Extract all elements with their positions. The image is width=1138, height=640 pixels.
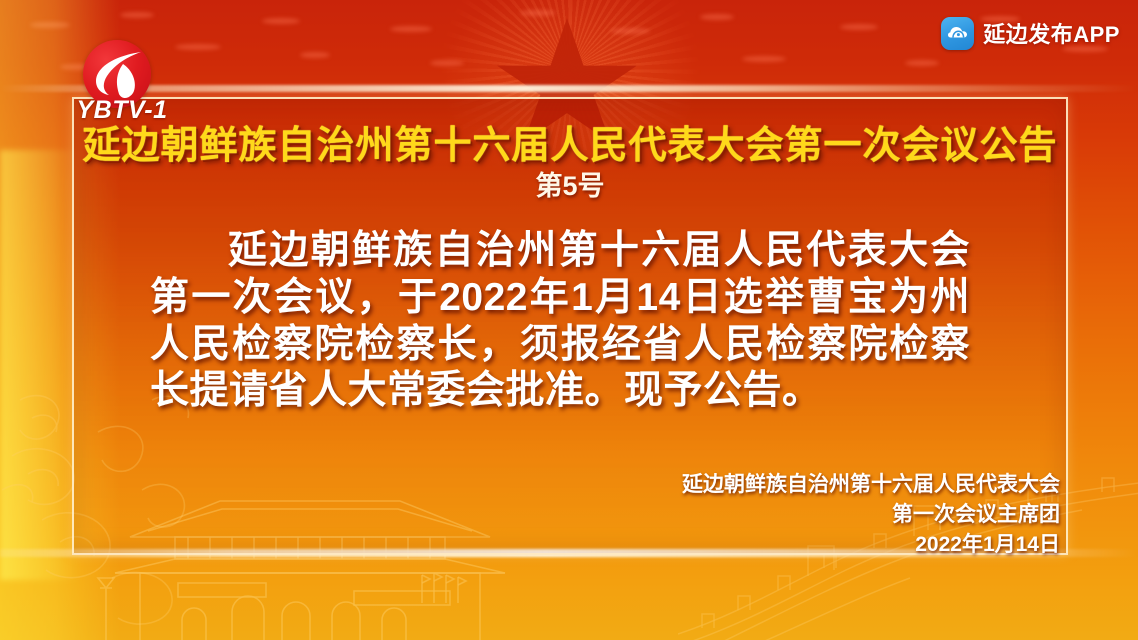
ybtv-channel-logo: YBTV-1 (63, 40, 181, 118)
broadcast-graphic: YBTV-1 延边发布APP 延边朝鲜族自治州第十六届人民代表大会第一次会议公告… (0, 0, 1138, 640)
cloud-app-icon (941, 17, 974, 50)
cloud-dash (430, 60, 464, 66)
signature-organization-line2: 第一次会议主席团 (460, 500, 1060, 530)
cloud-dash (700, 14, 734, 20)
announcement-title: 延边朝鲜族自治州第十六届人民代表大会第一次会议公告 (72, 114, 1068, 169)
announcement-body: 延边朝鲜族自治州第十六届人民代表大会第一次会议，于2022年1月14日选举曹宝为… (150, 228, 970, 415)
signature-organization-line1: 延边朝鲜族自治州第十六届人民代表大会 (460, 470, 1060, 500)
app-watermark: 延边发布APP (941, 16, 1120, 50)
cloud-dash (120, 12, 154, 18)
announcement-signature: 延边朝鲜族自治州第十六届人民代表大会 第一次会议主席团 2022年1月14日 (460, 470, 1060, 559)
announcement-number: 第5号 (72, 164, 1068, 203)
cloud-dash (520, 10, 556, 16)
signature-date: 2022年1月14日 (460, 530, 1060, 560)
cloud-dash (742, 56, 786, 62)
logo-swoosh-icon (93, 50, 145, 100)
cloud-dash (30, 22, 70, 28)
cloud-dash (905, 60, 939, 66)
cloud-dash (840, 24, 878, 30)
cloud-dash (262, 18, 300, 24)
cloud-dash (300, 52, 330, 58)
cloud-dash (390, 26, 432, 32)
app-watermark-label: 延边发布APP (983, 17, 1120, 49)
cloud-dash (175, 44, 221, 50)
cloud-dash (610, 28, 650, 34)
left-gold-wash-inner (0, 150, 80, 580)
